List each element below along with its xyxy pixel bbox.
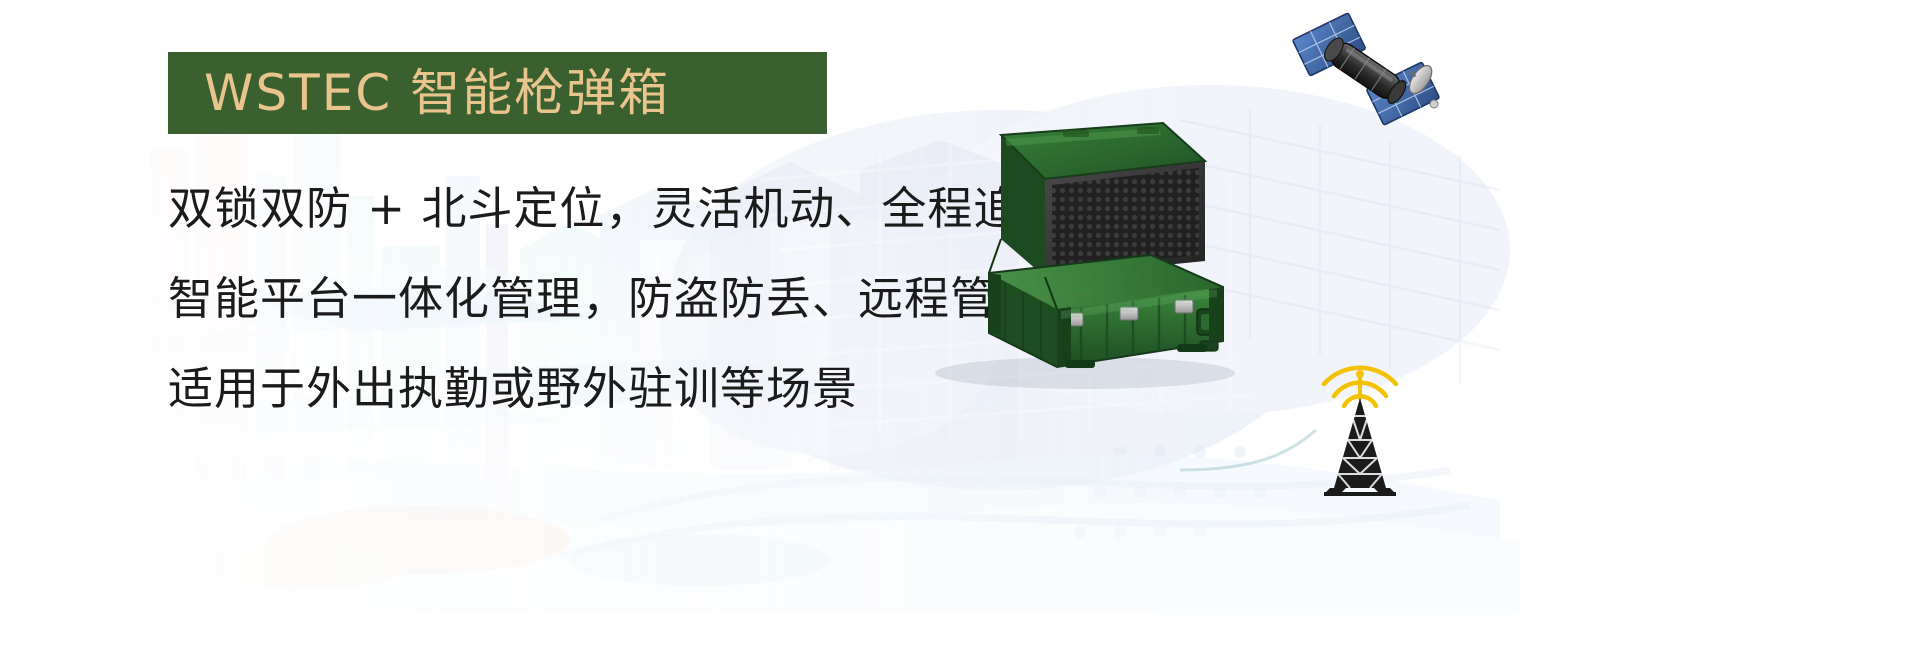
radio-tower-glyph [1300,352,1420,497]
product-image-weapon-case [905,105,1275,395]
title-banner: WSTEC 智能枪弹箱 [168,52,827,134]
case-body [989,255,1223,368]
satellite-icon [1286,8,1446,128]
hard-case-illustration [905,105,1275,395]
satellite-glyph [1286,8,1446,128]
case-lid [1001,123,1205,277]
page-title: WSTEC 智能枪弹箱 [204,68,670,118]
banner-page: WSTEC 智能枪弹箱 双锁双防 + 北斗定位，灵活机动、全程追踪 智能平台一体… [0,0,1920,648]
radio-tower-icon [1300,352,1420,497]
tower-structure [1324,398,1396,496]
